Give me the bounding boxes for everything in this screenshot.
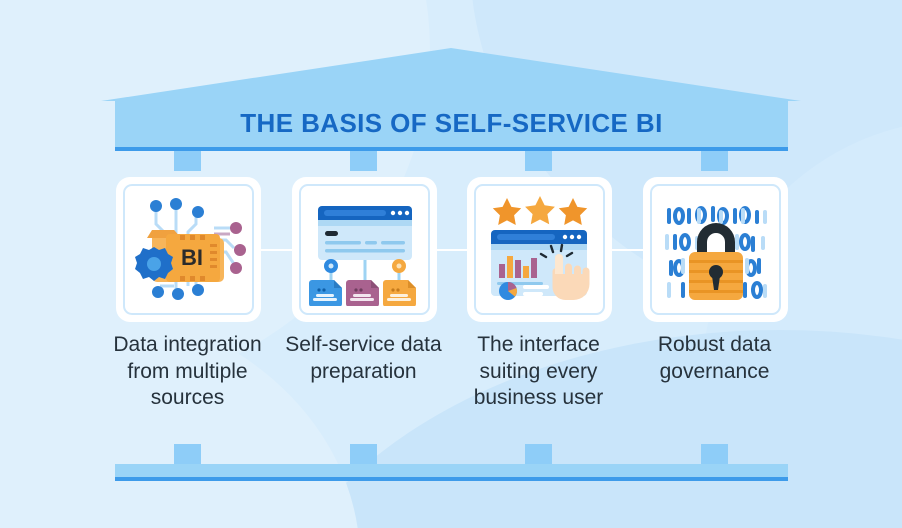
card-icon-frame: BI [123, 184, 254, 315]
card-self-service-prep[interactable] [292, 177, 437, 322]
pie-chart-glyph [499, 282, 517, 300]
page-title: THE BASIS OF SELF-SERVICE BI [115, 99, 788, 147]
card-interface-business-user[interactable] [467, 177, 612, 322]
pediment-roof-shape [101, 48, 801, 101]
connector-tab-top-1 [174, 151, 201, 171]
connector-tab-top-2 [350, 151, 377, 171]
document-orange-icon [383, 280, 416, 306]
base-bar [115, 464, 788, 478]
connector-tab-bottom-1 [174, 444, 201, 464]
card-icon-frame [474, 184, 605, 315]
connector-tab-top-4 [701, 151, 728, 171]
document-blue-icon [309, 280, 342, 306]
connector-tab-bottom-3 [525, 444, 552, 464]
connector-tab-bottom-2 [350, 444, 377, 464]
browser-to-documents-icon [306, 194, 424, 306]
card-icon-frame [299, 184, 430, 315]
base-bar-rule [115, 477, 788, 481]
padlock-binary-icon [657, 194, 775, 306]
star-rating-icons [492, 196, 586, 225]
card-icon-frame [650, 184, 781, 315]
document-purple-icon [346, 280, 379, 306]
infographic-canvas: THE BASIS OF SELF-SERVICE BI [0, 0, 902, 528]
card-data-governance[interactable] [643, 177, 788, 322]
caption-data-governance: Robust data governance [627, 332, 802, 385]
connector-tab-top-3 [525, 151, 552, 171]
card-link-line-1 [258, 249, 292, 251]
title-banner-rule [115, 147, 788, 151]
card-data-integration[interactable]: BI [116, 177, 261, 322]
dashboard-stars-hand-icon [481, 194, 599, 306]
bi-label: BI [181, 245, 203, 270]
connector-tab-bottom-4 [701, 444, 728, 464]
card-link-line-2 [434, 249, 468, 251]
caption-self-service-prep: Self-service data preparation [276, 332, 451, 385]
caption-data-integration: Data integration from multiple sources [100, 332, 275, 412]
bi-folder-circuit-icon: BI [130, 194, 248, 306]
card-link-line-3 [609, 249, 643, 251]
caption-interface-business-user: The interface suiting every business use… [451, 332, 626, 412]
